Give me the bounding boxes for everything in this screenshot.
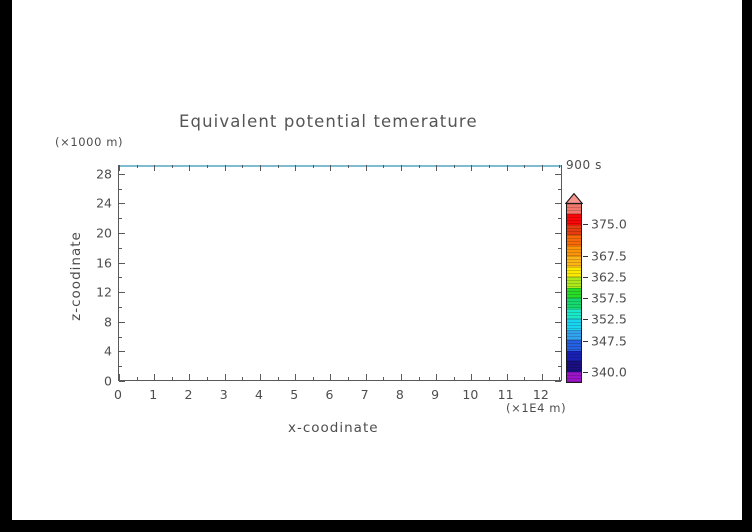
- x-axis-unit-caption: (×1E4 m): [506, 401, 566, 415]
- x-tick-top: [313, 165, 314, 168]
- y-tick: [119, 366, 122, 367]
- colorbar-band: [567, 372, 581, 382]
- x-axis-title: x-coodinate: [288, 420, 379, 436]
- x-tick: [137, 377, 138, 380]
- colorbar-band: [567, 256, 581, 266]
- x-tick: [524, 377, 525, 380]
- x-tick-label: 10: [462, 387, 478, 402]
- colorbar-band: [567, 235, 581, 245]
- colorbar-tick-label: 362.5: [591, 270, 627, 285]
- y-tick: [119, 233, 125, 234]
- y-tick: [119, 218, 122, 219]
- y-tick-right: [558, 277, 561, 278]
- x-tick-label: 4: [255, 387, 263, 402]
- y-tick-label: 12: [82, 285, 112, 300]
- y-tick-label: 24: [82, 196, 112, 211]
- x-tick-top: [172, 165, 173, 168]
- x-tick: [313, 377, 314, 380]
- colorbar-band: [567, 319, 581, 329]
- x-tick: [295, 374, 296, 380]
- x-tick-label: 0: [114, 387, 122, 402]
- colorbar: 375.0367.5362.5357.5352.5347.5340.0: [565, 193, 583, 385]
- y-tick: [119, 277, 122, 278]
- y-tick: [119, 292, 125, 293]
- colorbar-tick-label: 340.0: [591, 365, 627, 380]
- colorbar-band: [567, 277, 581, 287]
- x-tick-top: [330, 165, 331, 171]
- x-tick-label: 8: [396, 387, 404, 402]
- figure-canvas: Equivalent potential temerature (×1000 m…: [12, 0, 742, 520]
- x-tick-top: [154, 165, 155, 171]
- x-tick-top: [137, 165, 138, 168]
- x-tick: [278, 377, 279, 380]
- y-tick-label: 28: [82, 166, 112, 181]
- x-tick: [401, 374, 402, 380]
- y-tick-right: [555, 233, 561, 234]
- x-tick: [172, 377, 173, 380]
- y-tick-right: [555, 203, 561, 204]
- y-tick: [119, 322, 125, 323]
- x-tick-top: [489, 165, 490, 168]
- colorbar-tick: [583, 319, 588, 320]
- y-tick-right: [558, 218, 561, 219]
- colorbar-tick: [583, 256, 588, 257]
- y-tick: [119, 337, 122, 338]
- y-tick: [119, 263, 125, 264]
- y-tick-right: [558, 189, 561, 190]
- colorbar-tick-label: 375.0: [591, 217, 627, 232]
- x-tick: [507, 374, 508, 380]
- x-tick: [454, 377, 455, 380]
- x-tick: [260, 374, 261, 380]
- x-tick-label: 3: [220, 387, 228, 402]
- colorbar-tick: [583, 277, 588, 278]
- y-tick: [119, 351, 125, 352]
- x-tick-top: [436, 165, 437, 171]
- x-tick: [225, 374, 226, 380]
- x-tick-top: [419, 165, 420, 168]
- y-tick-label: 0: [82, 374, 112, 389]
- x-tick: [119, 374, 120, 380]
- y-tick: [119, 248, 122, 249]
- y-tick: [119, 174, 125, 175]
- x-tick-top: [348, 165, 349, 168]
- x-tick-label: 12: [533, 387, 549, 402]
- colorbar-band: [567, 351, 581, 361]
- y-tick-right: [558, 307, 561, 308]
- colorbar-band: [567, 288, 581, 298]
- x-tick-top: [524, 165, 525, 168]
- colorbar-tick-label: 367.5: [591, 248, 627, 263]
- x-tick: [330, 374, 331, 380]
- x-tick-label: 9: [431, 387, 439, 402]
- x-tick-top: [542, 165, 543, 171]
- x-tick-top: [295, 165, 296, 171]
- colorbar-tick: [583, 341, 588, 342]
- x-tick-top: [207, 165, 208, 168]
- x-tick: [348, 377, 349, 380]
- colorbar-band: [567, 267, 581, 277]
- colorbar-band: [567, 361, 581, 371]
- x-tick-top: [278, 165, 279, 168]
- colorbar-band: [567, 204, 581, 214]
- x-tick-label: 7: [361, 387, 369, 402]
- x-tick-top: [383, 165, 384, 168]
- colorbar-band: [567, 309, 581, 319]
- x-tick: [542, 374, 543, 380]
- y-tick-right: [558, 366, 561, 367]
- y-tick: [119, 189, 122, 190]
- y-tick-label: 16: [82, 255, 112, 270]
- x-tick-label: 6: [325, 387, 333, 402]
- y-tick-label: 20: [82, 226, 112, 241]
- colorbar-band: [567, 225, 581, 235]
- page-title: Equivalent potential temerature: [179, 112, 478, 131]
- y-tick-label: 4: [82, 344, 112, 359]
- x-tick-label: 2: [184, 387, 192, 402]
- y-tick-right: [558, 337, 561, 338]
- y-tick-right: [555, 351, 561, 352]
- y-tick-label: 8: [82, 314, 112, 329]
- colorbar-tick: [583, 372, 588, 373]
- y-tick-right: [555, 174, 561, 175]
- x-tick-top: [401, 165, 402, 171]
- colorbar-tick-label: 347.5: [591, 333, 627, 348]
- x-tick: [242, 377, 243, 380]
- colorbar-band: [567, 330, 581, 340]
- y-tick: [119, 381, 125, 382]
- x-tick: [419, 377, 420, 380]
- x-tick: [489, 377, 490, 380]
- time-annotation: 900 s: [566, 158, 602, 172]
- y-axis-unit-caption: (×1000 m): [55, 135, 123, 149]
- x-tick-label: 1: [149, 387, 157, 402]
- field-top-boundary-line: [119, 165, 561, 167]
- x-tick: [207, 377, 208, 380]
- y-tick: [119, 307, 122, 308]
- y-tick-right: [555, 322, 561, 323]
- x-tick-top: [454, 165, 455, 168]
- colorbar-tick: [583, 298, 588, 299]
- x-tick: [189, 374, 190, 380]
- x-tick: [436, 374, 437, 380]
- x-tick-label: 11: [498, 387, 514, 402]
- x-tick-top: [366, 165, 367, 171]
- y-tick-right: [558, 248, 561, 249]
- screenshot-root: Equivalent potential temerature (×1000 m…: [0, 0, 752, 532]
- y-tick-right: [555, 292, 561, 293]
- y-tick: [119, 203, 125, 204]
- colorbar-band: [567, 246, 581, 256]
- colorbar-tick-label: 357.5: [591, 291, 627, 306]
- x-tick-top: [225, 165, 226, 171]
- x-tick: [383, 377, 384, 380]
- x-tick: [471, 374, 472, 380]
- colorbar-band: [567, 340, 581, 350]
- x-tick: [154, 374, 155, 380]
- y-tick-right: [555, 263, 561, 264]
- x-tick: [559, 377, 560, 380]
- x-tick-top: [471, 165, 472, 171]
- x-tick-label: 5: [290, 387, 298, 402]
- x-tick-top: [189, 165, 190, 171]
- colorbar-tick: [583, 224, 588, 225]
- x-tick-top: [260, 165, 261, 171]
- colorbar-band: [567, 214, 581, 224]
- colorbar-gradient: [566, 203, 582, 383]
- x-tick-top: [507, 165, 508, 171]
- plot-area: [118, 165, 562, 381]
- x-tick-top: [242, 165, 243, 168]
- y-tick-right: [555, 381, 561, 382]
- colorbar-band: [567, 298, 581, 308]
- colorbar-tick-label: 352.5: [591, 312, 627, 327]
- x-tick: [366, 374, 367, 380]
- x-tick-top: [119, 165, 120, 171]
- x-tick-top: [559, 165, 560, 168]
